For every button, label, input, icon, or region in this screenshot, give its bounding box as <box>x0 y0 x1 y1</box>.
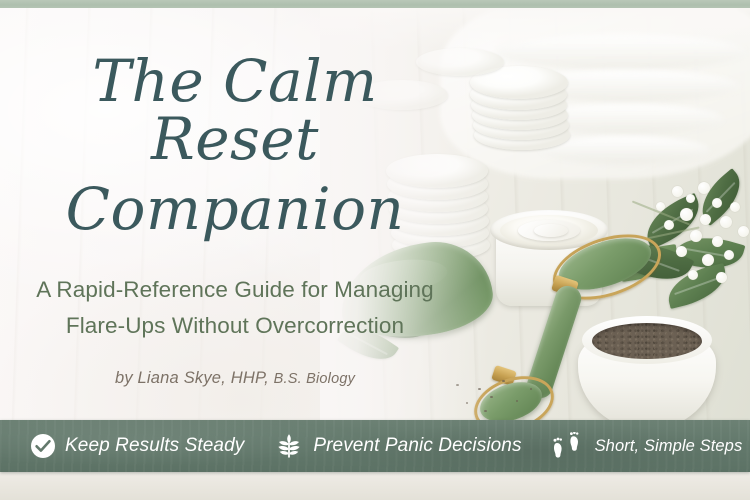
blossom <box>686 194 695 203</box>
blossom <box>730 202 740 212</box>
blossom <box>680 208 693 221</box>
cover-title: The Calm Reset Companion <box>0 52 470 238</box>
spilled-seed <box>502 380 505 382</box>
blossom <box>688 270 698 280</box>
feature-label: Prevent Panic Decisions <box>313 435 521 457</box>
blossom <box>690 230 702 242</box>
blossom <box>672 186 683 197</box>
footprints-icon <box>552 432 586 460</box>
blossom <box>738 226 749 237</box>
blossom <box>656 202 665 211</box>
cover-byline: by Liana Skye, HHP, B.S. Biology <box>115 369 355 388</box>
spilled-seed <box>530 388 532 390</box>
check-circle-icon <box>30 433 56 459</box>
title-line-2: Companion <box>0 180 470 238</box>
cover-subtitle: A Rapid-Reference Guide for Managing Fla… <box>36 272 434 345</box>
chia-seed-bowl-icon <box>578 316 716 420</box>
blossom <box>712 236 723 247</box>
blossom <box>720 216 732 228</box>
top-accent-strip <box>0 0 750 8</box>
spilled-seed <box>490 396 493 398</box>
feature-keep-results-steady: Keep Results Steady <box>30 433 244 459</box>
feature-label: Keep Results Steady <box>65 435 244 457</box>
feature-prevent-panic-decisions: Prevent Panic Decisions <box>274 433 521 459</box>
chia-seeds <box>592 323 702 359</box>
plant-leaf-icon <box>274 433 304 459</box>
subtitle-line-2: Flare-Ups Without Overcorrection <box>66 313 404 338</box>
byline-author: by Liana Skye, HHP, <box>115 369 269 387</box>
feature-bar: Keep Results Steady Prevent Panic Decisi… <box>0 420 750 472</box>
blossom <box>664 220 674 230</box>
blossom <box>724 250 734 260</box>
cover-text-block: The Calm Reset Companion A Rapid-Referen… <box>0 8 470 420</box>
blossom <box>700 214 711 225</box>
blossom <box>712 198 722 208</box>
bottom-background-strip <box>0 472 750 500</box>
blossom <box>716 272 727 283</box>
blossom <box>702 254 714 266</box>
book-cover: The Calm Reset Companion A Rapid-Referen… <box>0 0 750 500</box>
spilled-seed <box>516 400 518 402</box>
subtitle-line-1: A Rapid-Reference Guide for Managing <box>36 277 434 302</box>
feature-label: Short, Simple Steps <box>595 437 743 456</box>
feature-short-simple-steps: Short, Simple Steps <box>552 432 743 460</box>
byline-credential: B.S. Biology <box>274 371 355 387</box>
title-line-1: The Calm Reset <box>92 47 377 173</box>
blossom <box>698 182 710 194</box>
